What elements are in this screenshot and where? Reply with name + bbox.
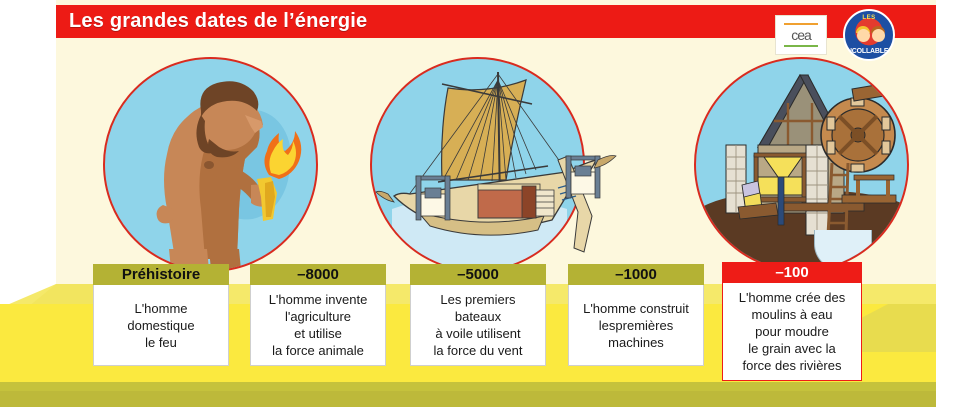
timeline-card-date: –5000	[410, 264, 546, 285]
cea-logo[interactable]: cea	[775, 15, 827, 55]
podium-bottom-strip	[0, 382, 936, 391]
left-white-margin	[0, 0, 56, 286]
timeline-card-date: –8000	[250, 264, 386, 285]
les-incollables-kid-face-left	[857, 29, 870, 42]
ancient-sailing-boat-illustration	[330, 60, 630, 275]
timeline-card-text: L'hommedomestiquele feu	[123, 296, 198, 355]
cea-logo-bottom-rule	[784, 45, 818, 47]
les-incollables-kid-face-right	[872, 29, 885, 42]
page-title: Les grandes dates de l’énergie	[69, 10, 367, 33]
les-incollables-logo-top-text: LES	[845, 15, 893, 21]
cea-logo-top-rule	[784, 23, 818, 25]
timeline-card-prehistoire[interactable]: Préhistoire L'hommedomestiquele feu	[93, 264, 229, 366]
timeline-card-text: L'homme crée desmoulins à eaupour moudre…	[735, 285, 850, 378]
les-incollables-logo-bottom-text: INCOLLABLES	[845, 48, 893, 55]
les-incollables-logo[interactable]: LES INCOLLABLES	[843, 9, 895, 61]
timeline-card-text: L'homme inventel'agricultureet utilisela…	[265, 287, 372, 363]
timeline-card-body: Les premiersbateauxà voile utilisentla f…	[410, 285, 546, 366]
timeline-card-date: Préhistoire	[93, 264, 229, 285]
timeline-card-1000[interactable]: –1000 L'homme construitlespremièresmachi…	[568, 264, 704, 366]
timeline-card-text: Les premiersbateauxà voile utilisentla f…	[430, 287, 527, 363]
infographic-canvas: Les grandes dates de l’énergie cea LES I…	[0, 0, 960, 407]
timeline-card-text: L'homme construitlespremièresmachines	[579, 296, 693, 355]
timeline-card-body: L'homme inventel'agricultureet utilisela…	[250, 285, 386, 366]
illustration-circle-watermill	[694, 57, 909, 272]
timeline-card-100[interactable]: –100 L'homme crée desmoulins à eaupour m…	[722, 262, 862, 381]
timeline-card-body: L'homme construitlespremièresmachines	[568, 285, 704, 366]
sailboat-icon	[330, 60, 630, 275]
illustration-circle-prehistory	[103, 57, 318, 272]
timeline-card-body: L'hommedomestiquele feu	[93, 285, 229, 366]
right-white-margin	[936, 0, 960, 407]
timeline-card-5000[interactable]: –5000 Les premiersbateauxà voile utilise…	[410, 264, 546, 366]
timeline-card-8000[interactable]: –8000 L'homme inventel'agricultureet uti…	[250, 264, 386, 366]
timeline-card-date: –100	[722, 262, 862, 283]
timeline-card-body: L'homme crée desmoulins à eaupour moudre…	[722, 283, 862, 381]
prehistoric-man-with-torch-icon	[105, 59, 316, 270]
timeline-card-date: –1000	[568, 264, 704, 285]
cea-logo-text: cea	[791, 28, 811, 42]
podium-base-strip	[0, 391, 936, 407]
water-mill-icon	[696, 59, 907, 270]
